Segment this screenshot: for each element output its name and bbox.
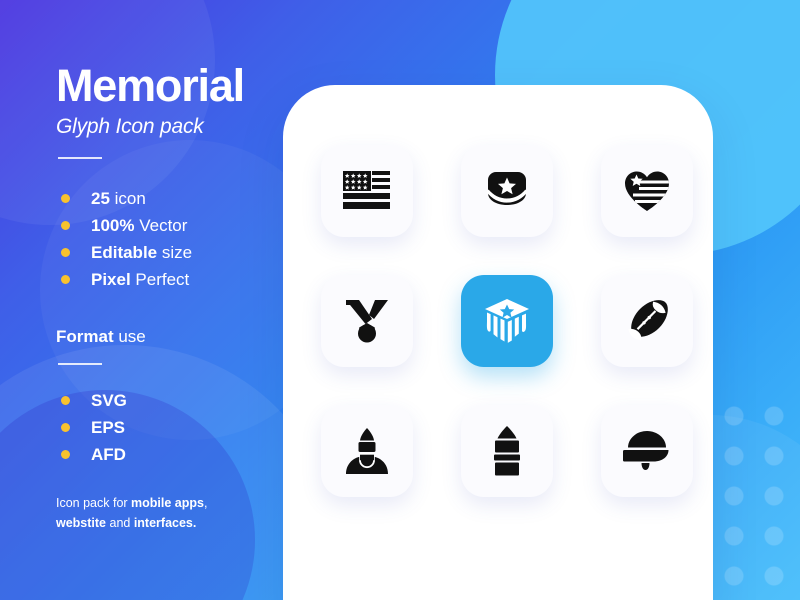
format-list: SVG EPS AFD: [56, 387, 286, 468]
feature-list: 25 icon 100% Vector Editable size Pixel …: [56, 185, 286, 293]
poster-canvas: Memorial Glyph Icon pack 25 icon 100% Ve…: [0, 0, 800, 600]
feature-strong: Pixel: [91, 270, 131, 289]
bullet-dot-icon: [61, 221, 70, 230]
format-label: AFD: [91, 445, 126, 465]
icon-tile-medal[interactable]: [321, 275, 413, 367]
page-subtitle: Glyph Icon pack: [56, 115, 286, 139]
feature-label: 25 icon: [91, 189, 146, 209]
list-item: Pixel Perfect: [56, 266, 286, 293]
list-item: 25 icon: [56, 185, 286, 212]
medal-icon: [344, 297, 390, 345]
bullet-dot-icon: [61, 248, 70, 257]
format-heading: Format use: [56, 327, 286, 347]
format-heading-normal: use: [114, 327, 146, 346]
list-item: SVG: [56, 387, 286, 414]
american-football-icon: [623, 297, 671, 345]
bullet-dot-icon: [61, 275, 70, 284]
page-title: Memorial: [56, 62, 286, 109]
icon-tile-soldier-bust[interactable]: [321, 405, 413, 497]
bullet-dot-icon: [61, 450, 70, 459]
usa-flag-icon: [342, 169, 392, 213]
military-cap-icon: [484, 168, 530, 214]
icon-tile-flag-heart[interactable]: [601, 145, 693, 237]
list-item: 100% Vector: [56, 212, 286, 239]
footer-text-c: ,: [204, 496, 207, 510]
feature-label: 100% Vector: [91, 216, 187, 236]
footer-text-d: webstite: [56, 516, 106, 530]
footer-text-b: mobile apps: [131, 496, 204, 510]
feature-normal: Vector: [134, 216, 187, 235]
icon-tile-american-football[interactable]: [601, 275, 693, 367]
footer-text-a: Icon pack for: [56, 496, 131, 510]
feature-normal: icon: [110, 189, 146, 208]
feature-label: Editable size: [91, 243, 192, 263]
bullet-dot-icon: [61, 423, 70, 432]
footer-note: Icon pack for mobile apps,webstite and i…: [56, 494, 246, 533]
bullet-dot-icon: [61, 396, 70, 405]
format-label: SVG: [91, 391, 127, 411]
feature-label: Pixel Perfect: [91, 270, 189, 290]
title-divider: [58, 157, 102, 159]
feature-strong: 25: [91, 189, 110, 208]
feature-strong: Editable: [91, 243, 157, 262]
bullet-ammo-icon: [490, 426, 524, 476]
format-label: EPS: [91, 418, 125, 438]
format-heading-strong: Format: [56, 327, 114, 346]
list-item: EPS: [56, 414, 286, 441]
feature-strong: 100%: [91, 216, 134, 235]
footer-text-f: interfaces.: [134, 516, 197, 530]
star-badge-box-icon: [481, 295, 533, 347]
army-helmet-icon: [622, 430, 672, 472]
format-divider: [58, 363, 102, 365]
icon-tile-bullet-ammo[interactable]: [461, 405, 553, 497]
list-item: Editable size: [56, 239, 286, 266]
feature-normal: size: [157, 243, 192, 262]
feature-normal: Perfect: [131, 270, 190, 289]
icon-grid: [321, 145, 677, 497]
icon-tile-army-helmet[interactable]: [601, 405, 693, 497]
icon-showcase-panel: [283, 85, 713, 600]
icon-tile-military-cap[interactable]: [461, 145, 553, 237]
icon-tile-star-badge-box[interactable]: [461, 275, 553, 367]
info-column: Memorial Glyph Icon pack 25 icon 100% Ve…: [56, 62, 286, 533]
bullet-dot-icon: [61, 194, 70, 203]
list-item: AFD: [56, 441, 286, 468]
footer-text-e: and: [106, 516, 134, 530]
soldier-bust-icon: [344, 427, 390, 475]
flag-heart-icon: [623, 169, 671, 213]
icon-tile-usa-flag[interactable]: [321, 145, 413, 237]
